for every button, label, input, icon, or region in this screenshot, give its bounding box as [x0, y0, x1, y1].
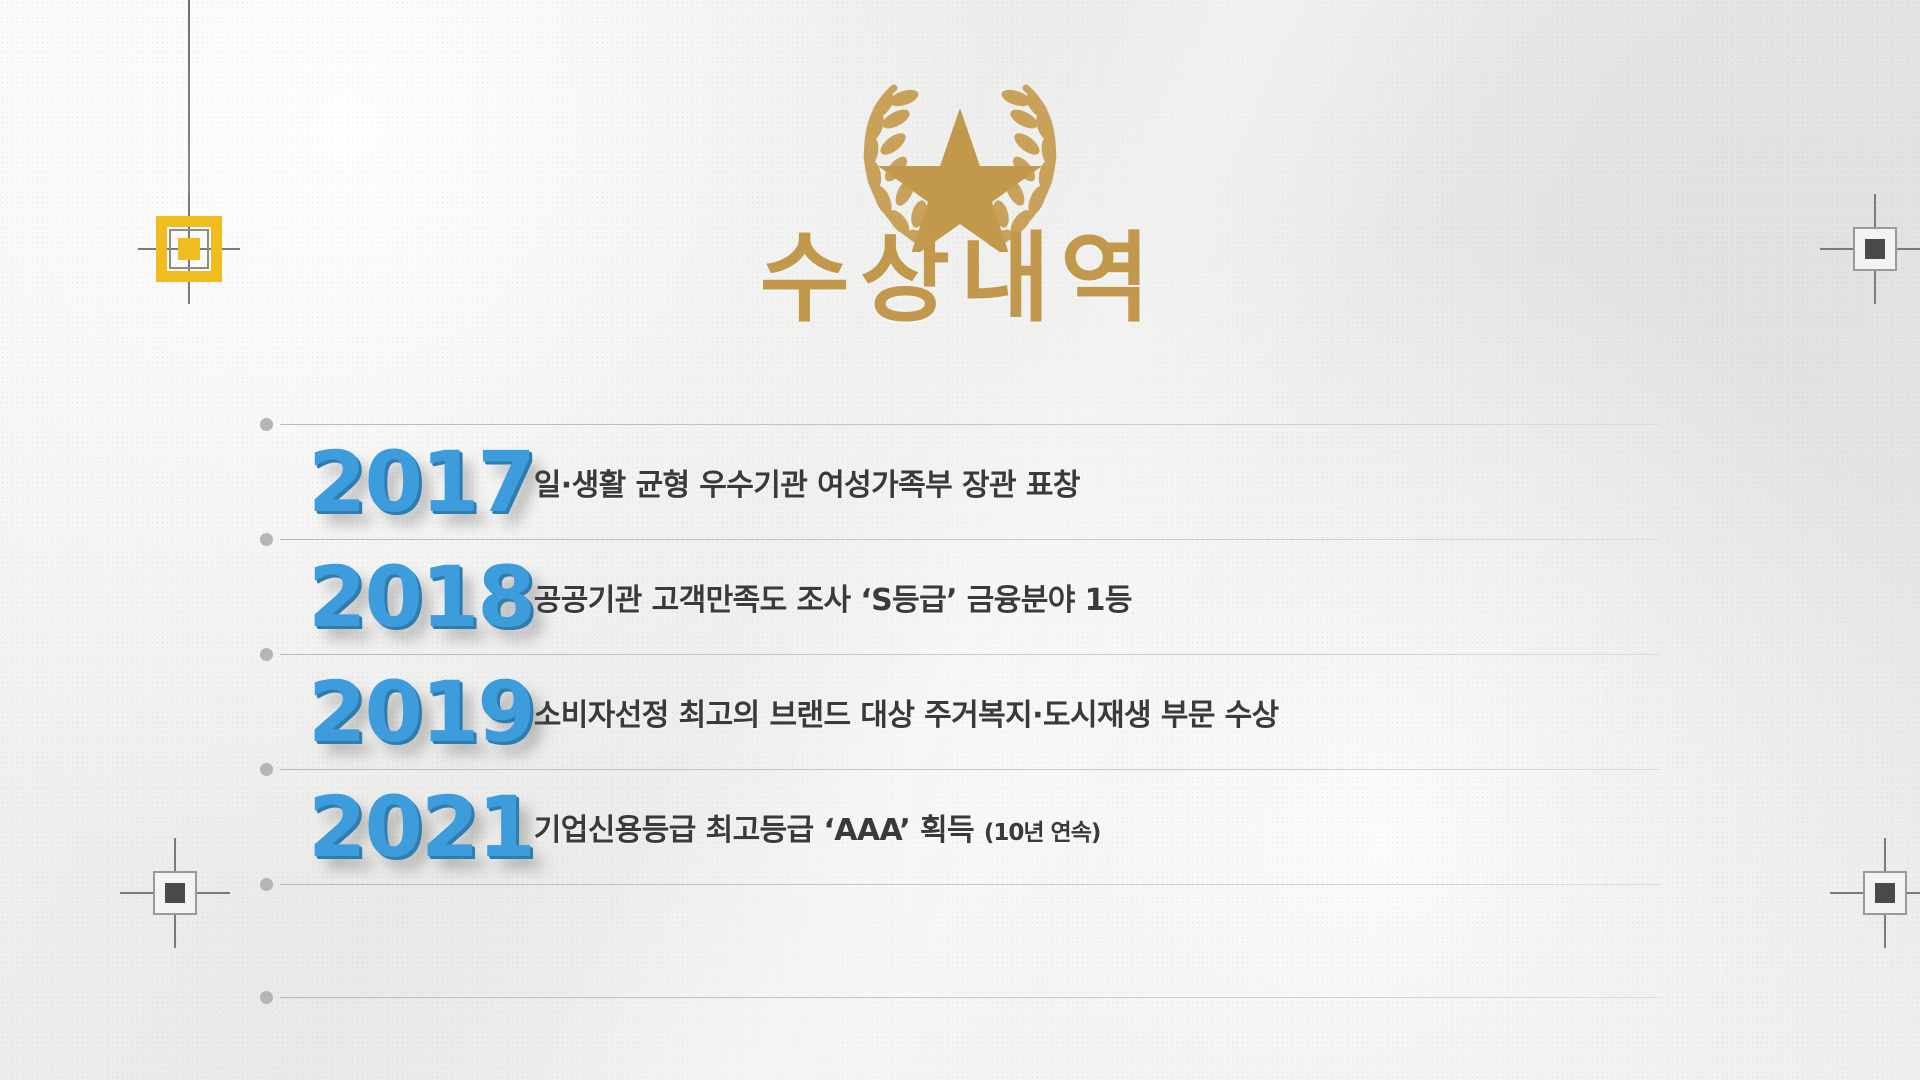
registration-marker-bottom-left: [138, 856, 212, 930]
award-description-text: 일·생활 균형 우수기관 여성가족부 장관 표창: [534, 468, 1080, 503]
marker-inner-box: [165, 883, 185, 903]
award-description: 공공기관 고객만족도 조사 ‘S등급’ 금융분야 1등: [534, 575, 1660, 619]
separator-dot: [260, 878, 273, 891]
registration-marker-bottom-right: [1848, 856, 1920, 930]
list-separator: [280, 884, 1660, 885]
award-year: 2017: [260, 440, 534, 524]
award-description: 소비자선정 최고의 브랜드 대상 주거복지·도시재생 부문 수상: [534, 690, 1660, 734]
list-item[interactable]: 2018 공공기관 고객만족도 조사 ‘S등급’ 금융분야 1등: [260, 540, 1660, 654]
award-year: 2021: [260, 785, 534, 869]
page-title: 수상내역: [0, 228, 1920, 331]
award-description-text: 소비자선정 최고의 브랜드 대상 주거복지·도시재생 부문 수상: [534, 698, 1279, 733]
award-list: 2017 일·생활 균형 우수기관 여성가족부 장관 표창 2018 공공기관 …: [260, 424, 1660, 998]
award-description: 기업신용등급 최고등급 ‘AAA’ 획득 (10년 연속): [534, 805, 1660, 849]
hanging-thread-line: [188, 0, 190, 212]
award-description-note: (10년 연속): [984, 820, 1101, 846]
slide-canvas: 수상내역 2017 일·생활 균형 우수기관 여성가족부 장관 표창 2018 …: [0, 0, 1920, 1080]
list-item[interactable]: 2017 일·생활 균형 우수기관 여성가족부 장관 표창: [260, 425, 1660, 539]
marker-inner-box: [1875, 883, 1895, 903]
list-bottom-spacer: [260, 885, 1660, 997]
list-item[interactable]: 2019 소비자선정 최고의 브랜드 대상 주거복지·도시재생 부문 수상: [260, 655, 1660, 769]
award-description-text: 공공기관 고객만족도 조사 ‘S등급’ 금융분야 1등: [534, 583, 1132, 618]
award-year: 2018: [260, 555, 534, 639]
list-item[interactable]: 2021 기업신용등급 최고등급 ‘AAA’ 획득 (10년 연속): [260, 770, 1660, 884]
award-description-text: 기업신용등급 최고등급 ‘AAA’ 획득: [534, 813, 984, 848]
award-description: 일·생활 균형 우수기관 여성가족부 장관 표창: [534, 460, 1660, 504]
award-year: 2019: [260, 670, 534, 754]
separator-dot: [260, 991, 273, 1004]
list-separator: [280, 997, 1660, 998]
